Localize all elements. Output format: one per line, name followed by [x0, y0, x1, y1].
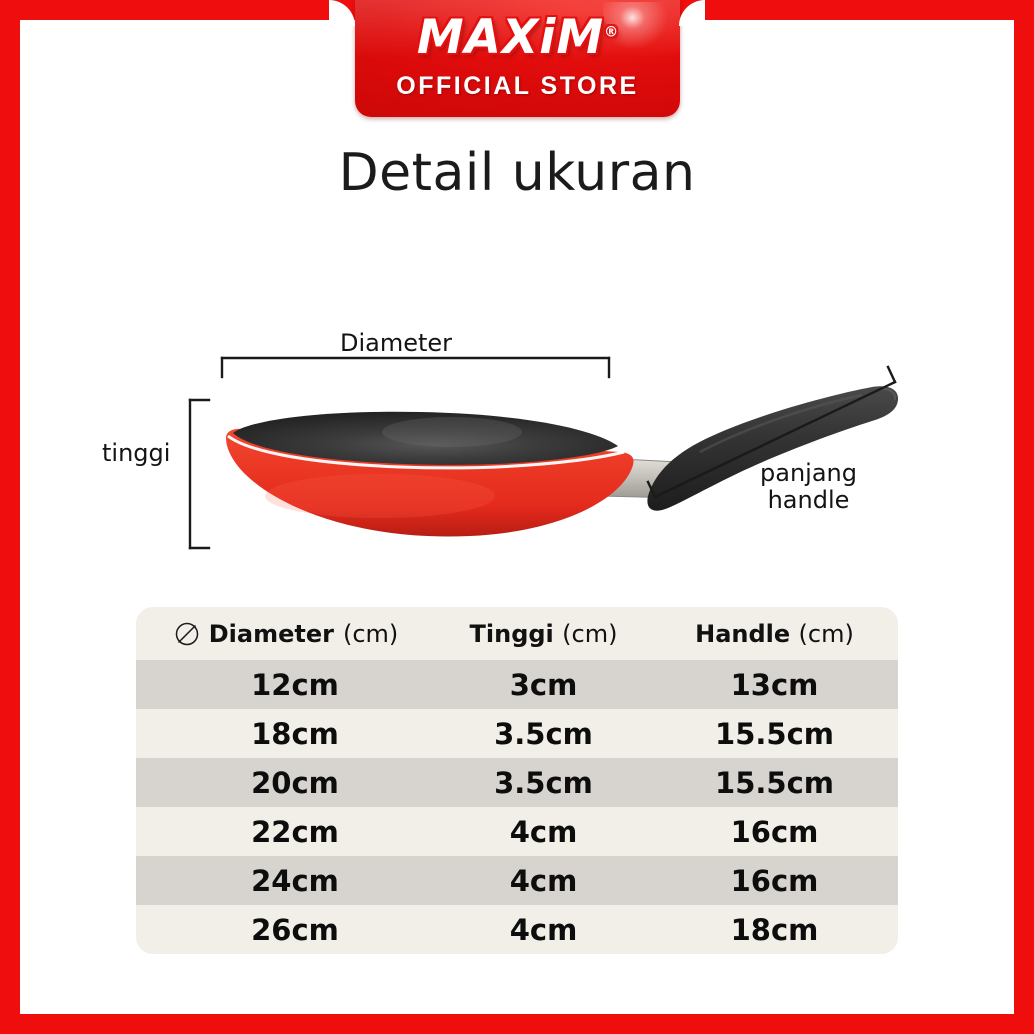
- cell-handle: 15.5cm: [651, 766, 898, 800]
- handle-length-label: panjang handle: [760, 460, 857, 514]
- frame-border-left: [0, 0, 20, 1034]
- cell-tinggi: 3.5cm: [436, 717, 651, 751]
- table-row: 26cm 4cm 18cm: [136, 905, 898, 954]
- product-size-infographic: MAXiM® OFFICIAL STORE Detail ukuran: [0, 0, 1034, 1034]
- pan-illustration: Diameter tinggi panjang handle: [0, 300, 1034, 590]
- tinggi-bracket: [190, 400, 209, 548]
- table-row: 18cm 3.5cm 15.5cm: [136, 709, 898, 758]
- cell-diameter: 18cm: [136, 717, 436, 751]
- column-header-diameter-unit: (cm): [343, 620, 398, 648]
- cell-diameter: 20cm: [136, 766, 436, 800]
- page-title: Detail ukuran: [0, 143, 1034, 203]
- cell-handle: 16cm: [651, 815, 898, 849]
- brand-logo-text: MAXiM: [417, 10, 604, 65]
- cell-tinggi: 4cm: [436, 864, 651, 898]
- cell-handle: 15.5cm: [651, 717, 898, 751]
- cell-diameter: 26cm: [136, 913, 436, 947]
- cell-tinggi: 3.5cm: [436, 766, 651, 800]
- table-row: 12cm 3cm 13cm: [136, 660, 898, 709]
- cell-tinggi: 4cm: [436, 815, 651, 849]
- size-spec-table: Diameter (cm) Tinggi (cm) Handle (cm) 12…: [136, 607, 898, 954]
- column-header-diameter-label: Diameter: [209, 620, 334, 648]
- cell-diameter: 12cm: [136, 668, 436, 702]
- table-row: 20cm 3.5cm 15.5cm: [136, 758, 898, 807]
- banner-subtitle: OFFICIAL STORE: [355, 72, 680, 101]
- brand-banner: MAXiM® OFFICIAL STORE: [355, 0, 680, 117]
- cell-diameter: 24cm: [136, 864, 436, 898]
- cell-handle: 13cm: [651, 668, 898, 702]
- column-header-handle: Handle (cm): [651, 620, 898, 648]
- diameter-symbol-icon: [174, 621, 200, 647]
- column-header-handle-label: Handle: [695, 620, 790, 648]
- cell-tinggi: 3cm: [436, 668, 651, 702]
- table-header-row: Diameter (cm) Tinggi (cm) Handle (cm): [136, 607, 898, 660]
- table-row: 22cm 4cm 16cm: [136, 807, 898, 856]
- cell-diameter: 22cm: [136, 815, 436, 849]
- column-header-diameter: Diameter (cm): [136, 620, 436, 648]
- cell-tinggi: 4cm: [436, 913, 651, 947]
- diameter-label: Diameter: [340, 329, 452, 357]
- frame-border-right: [1014, 0, 1034, 1034]
- brand-logo: MAXiM®: [355, 14, 680, 61]
- tinggi-label: tinggi: [102, 439, 170, 467]
- cell-handle: 18cm: [651, 913, 898, 947]
- registered-mark-icon: ®: [604, 24, 618, 40]
- pan-body: [226, 412, 634, 537]
- cell-handle: 16cm: [651, 864, 898, 898]
- diameter-bracket: [222, 358, 609, 377]
- frame-border-bottom: [0, 1014, 1034, 1034]
- column-header-tinggi-unit: (cm): [562, 620, 617, 648]
- column-header-handle-unit: (cm): [799, 620, 854, 648]
- column-header-tinggi: Tinggi (cm): [436, 620, 651, 648]
- table-row: 24cm 4cm 16cm: [136, 856, 898, 905]
- handle-label-line2: handle: [768, 486, 850, 514]
- column-header-tinggi-label: Tinggi: [470, 620, 554, 648]
- handle-label-line1: panjang: [760, 459, 857, 487]
